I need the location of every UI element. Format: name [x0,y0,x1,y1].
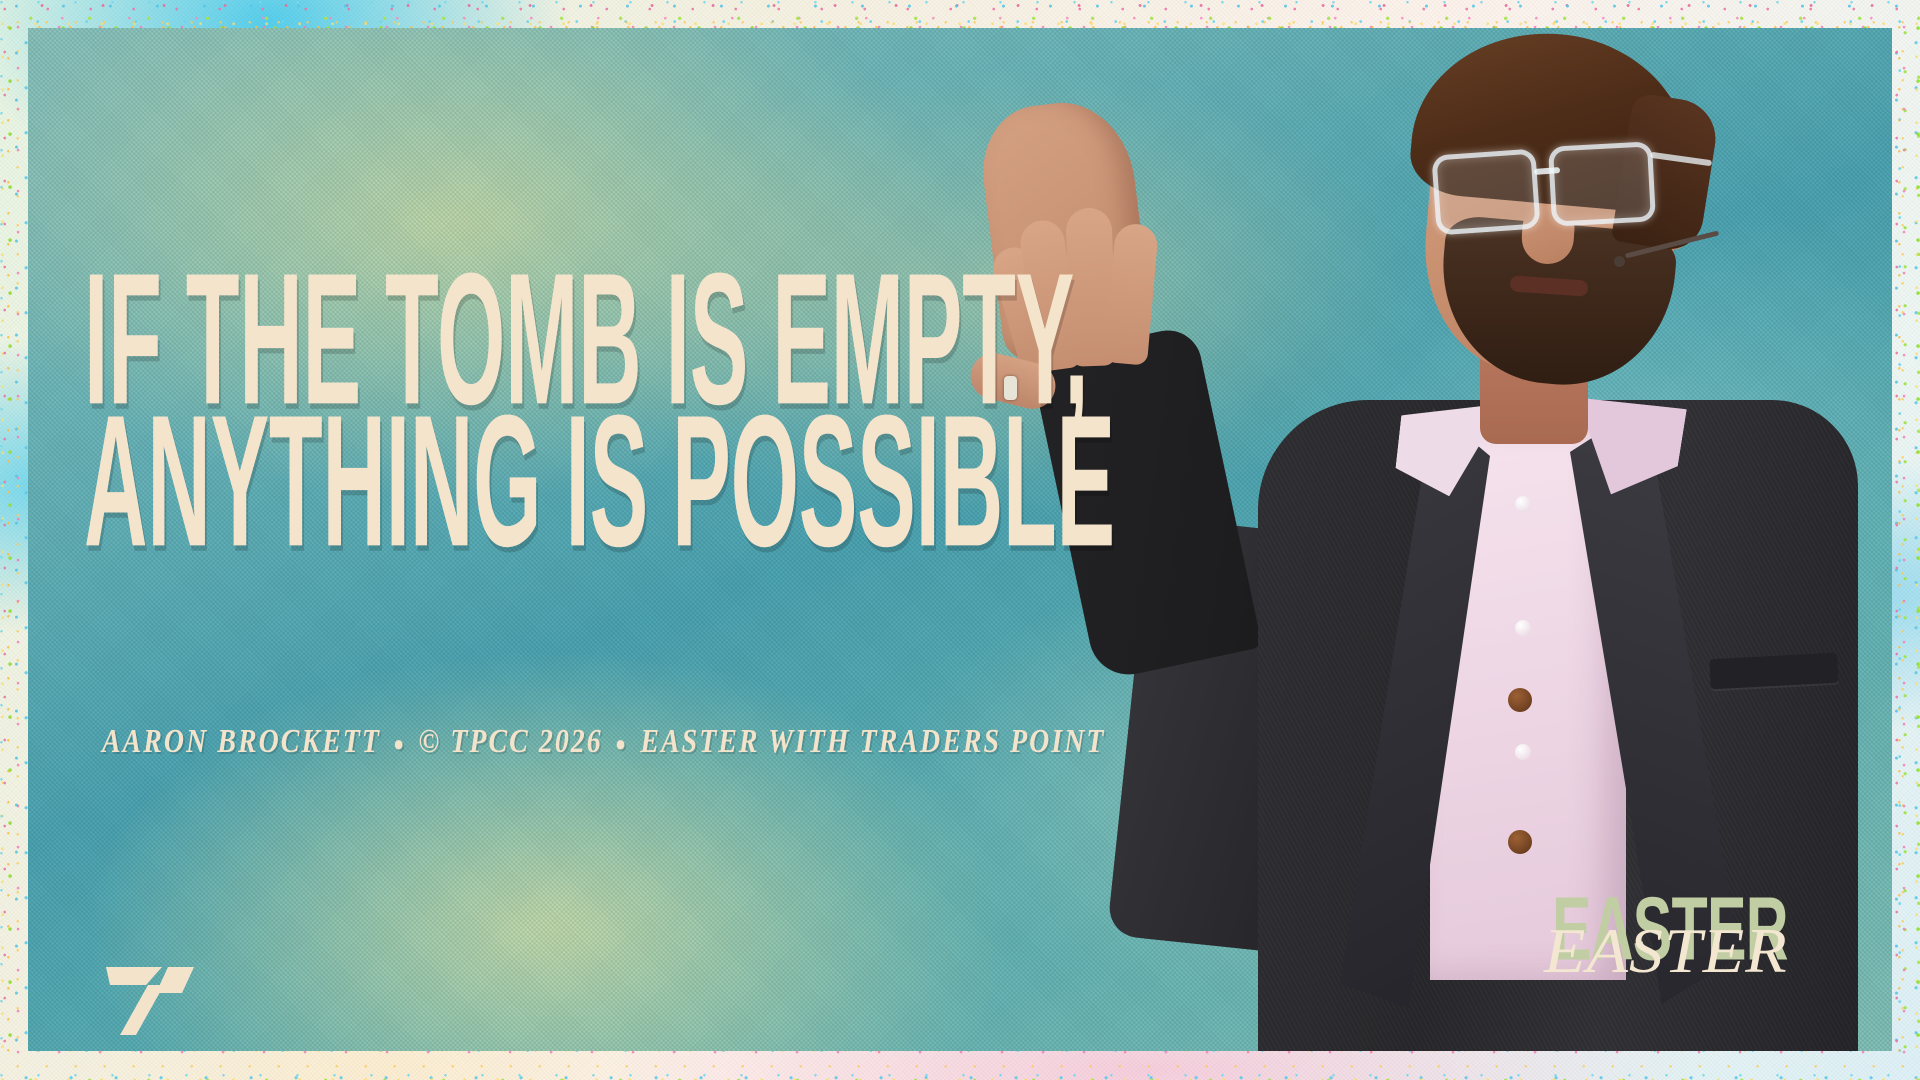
credit-speaker: AARON BROCKETT [102,723,381,760]
credit-separator-icon: ● [390,731,410,756]
page-title: IF THE TOMB IS EMPTY, ANYTHING IS POSSIB… [84,283,1747,538]
shirt-button [1515,620,1531,636]
suit-button [1508,688,1532,712]
easter-lockup: EASTER EASTER [1552,885,1822,995]
suit-button [1508,830,1532,854]
headline-line-2: ANYTHING IS POSSIBLE [84,406,1115,556]
credit-series: EASTER WITH TRADERS POINT [640,723,1105,760]
credit-line: AARON BROCKETT ● © TPCC 2026 ● EASTER WI… [102,723,1106,761]
photo-panel: IF THE TOMB IS EMPTY, ANYTHING IS POSSIB… [28,28,1892,1051]
easter-sermon-poster: IF THE TOMB IS EMPTY, ANYTHING IS POSSIB… [0,0,1920,1080]
eyeglass-lens-right [1548,141,1656,226]
credit-separator-icon: ● [612,731,632,756]
easter-italic-wordmark: EASTER [1544,919,1788,983]
headset-mic-capsule [1614,256,1625,267]
eyeglass-lens-left [1431,148,1540,235]
shirt-button [1515,744,1531,760]
credit-copyright: © TPCC 2026 [418,723,602,760]
tp-logo[interactable] [102,963,198,1039]
